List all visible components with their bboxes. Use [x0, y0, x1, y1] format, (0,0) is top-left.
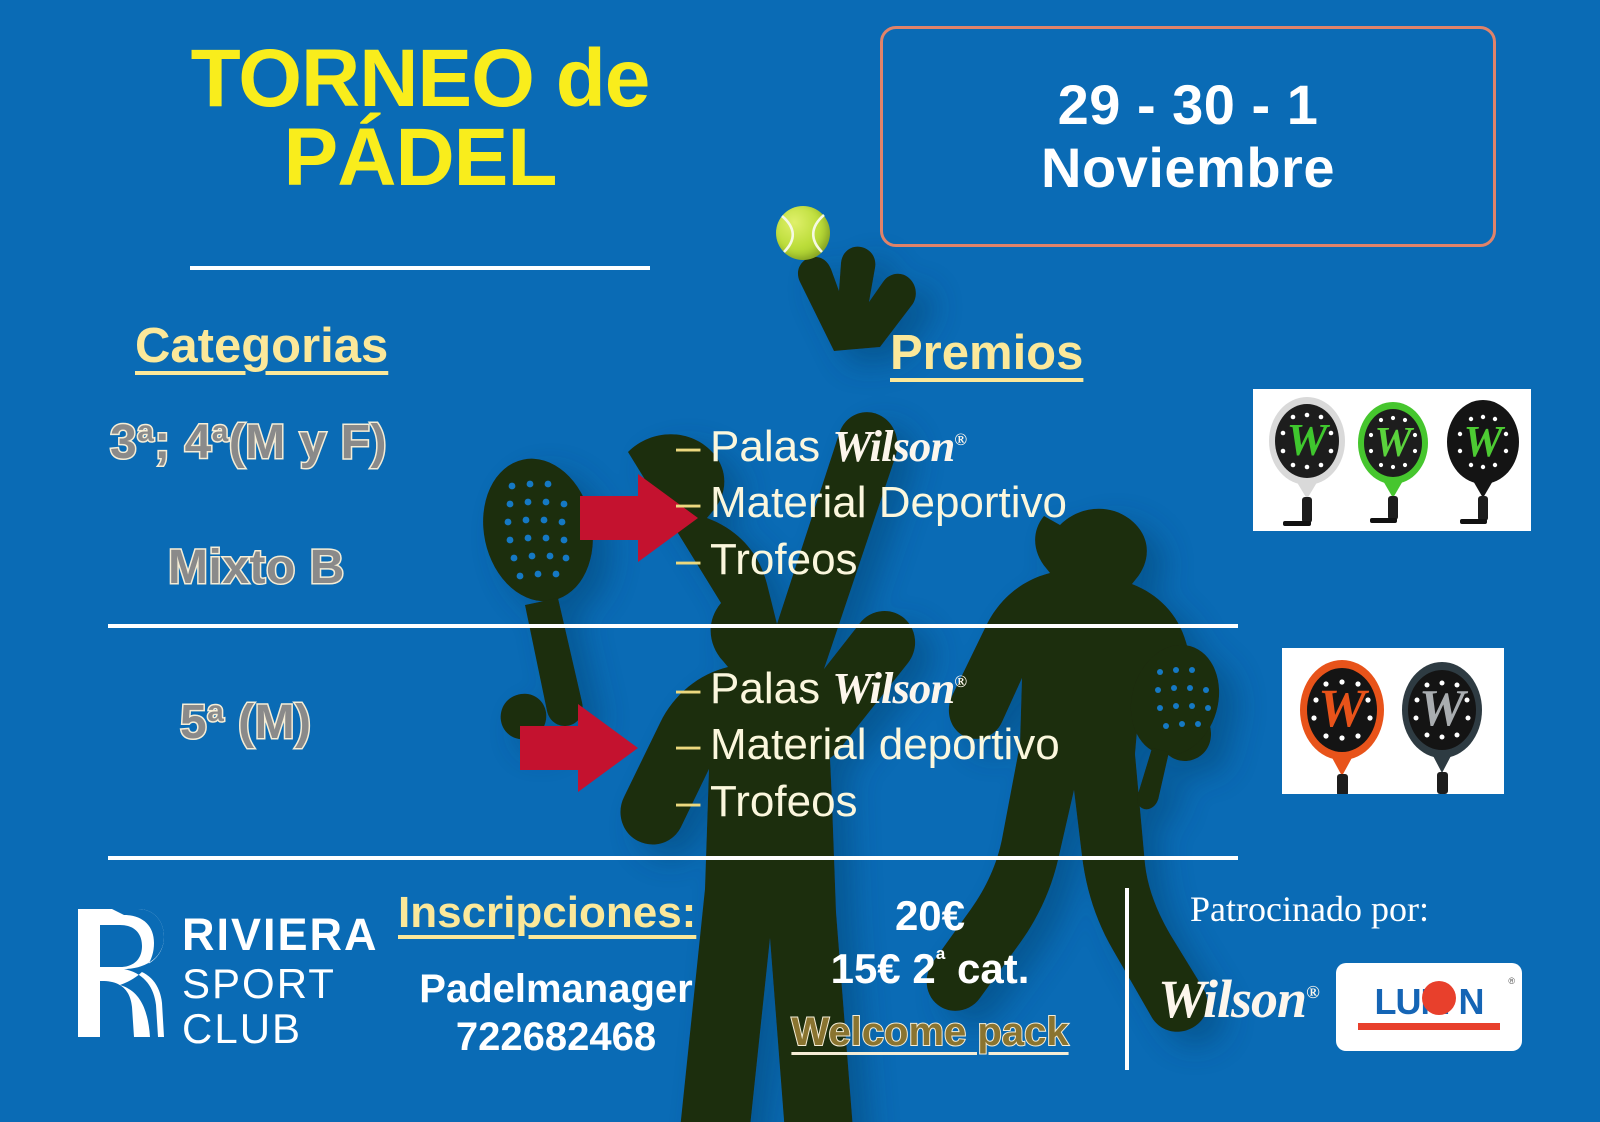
wilson-brand-mark: Wilson®	[832, 663, 966, 713]
page-title: TORNEO de PÁDEL	[120, 40, 720, 197]
inscriptions-heading: Inscripciones:	[398, 888, 696, 938]
price-second-category: 15€ 2ª cat.	[770, 943, 1090, 996]
sponsors-heading: Patrocinado por:	[1190, 888, 1429, 930]
bullet-dash-icon: –	[676, 532, 710, 588]
date-days: 29 - 30 - 1	[1041, 74, 1335, 137]
title-underline-rule	[190, 266, 650, 270]
date-month: Noviembre	[1041, 137, 1335, 200]
poster-canvas: TORNEO de PÁDEL 29 - 30 - 1 Noviembre Ca…	[0, 0, 1600, 1122]
prize-list-block-2: –Palas Wilson® –Material deportivo –Trof…	[676, 660, 1060, 830]
date-box: 29 - 30 - 1 Noviembre	[880, 26, 1496, 247]
sponsor-wilson-logo: Wilson®	[1158, 968, 1319, 1030]
racket-photo-force-set: W W	[1282, 648, 1504, 794]
prize-list-block-1: –Palas Wilson® –Material Deportivo –Trof…	[676, 418, 1067, 588]
svg-text:W: W	[1287, 414, 1331, 465]
title-line-1: TORNEO de	[120, 40, 720, 119]
club-name-line-1: RIVIERA	[182, 912, 412, 957]
prize-label: Material deportivo	[710, 720, 1060, 769]
prize-item: –Palas Wilson®	[676, 660, 1060, 717]
prizes-heading: Premios	[890, 325, 1083, 381]
prize-item: –Palas Wilson®	[676, 418, 1067, 475]
prize-label: Trofeos	[710, 535, 858, 584]
category-item-2: Mixto B	[168, 540, 345, 595]
prize-item: –Material deportivo	[676, 717, 1060, 773]
racket-photo-green-set: W W	[1253, 389, 1531, 531]
inscription-phone[interactable]: 722682468	[396, 1013, 716, 1061]
svg-text:W: W	[1374, 420, 1414, 466]
welcome-pack-label: Welcome pack	[770, 1010, 1090, 1055]
riviera-sport-club-logo: RIVIERA SPORT CLUB	[72, 900, 412, 1050]
lumon-underbar	[1358, 1023, 1500, 1030]
inscriptions-body: Padelmanager 722682468	[396, 965, 716, 1061]
prize-item: –Trofeos	[676, 774, 1060, 830]
title-line-2: PÁDEL	[120, 119, 720, 198]
prize-label: Palas	[710, 422, 832, 471]
prize-item: –Trofeos	[676, 532, 1067, 588]
svg-text:W: W	[1419, 680, 1469, 737]
section-divider-1	[108, 624, 1238, 628]
lumon-registered-mark: ®	[1508, 976, 1515, 986]
bullet-dash-icon: –	[676, 475, 710, 531]
bullet-dash-icon: –	[676, 661, 710, 717]
price-full: 20€	[770, 890, 1090, 943]
prize-label: Trofeos	[710, 777, 858, 826]
svg-text:W: W	[1318, 678, 1370, 738]
bullet-dash-icon: –	[676, 774, 710, 830]
inscription-platform: Padelmanager	[396, 965, 716, 1013]
bullet-dash-icon: –	[676, 717, 710, 773]
pricing-block: 20€ 15€ 2ª cat.	[770, 890, 1090, 995]
wilson-brand-mark: Wilson®	[832, 421, 966, 471]
category-item-1: 3a; 4a(M y F)	[110, 415, 387, 470]
lumon-sun-icon	[1422, 981, 1456, 1015]
prize-item: –Material Deportivo	[676, 475, 1067, 531]
sponsor-lumon-logo: LUM N ®	[1336, 963, 1522, 1051]
prize-label: Material Deportivo	[710, 478, 1067, 527]
riviera-monogram-icon	[72, 903, 164, 1043]
category-item-3: 5a (M)	[180, 695, 312, 750]
sponsor-vertical-divider	[1125, 888, 1129, 1070]
svg-text:W: W	[1463, 417, 1505, 466]
tennis-ball-icon	[776, 206, 830, 260]
arrow-icon	[520, 474, 698, 792]
club-name-line-2: SPORT CLUB	[182, 961, 412, 1052]
categories-heading: Categorias	[135, 318, 388, 374]
prize-label: Palas	[710, 664, 832, 713]
section-divider-2	[108, 856, 1238, 860]
bullet-dash-icon: –	[676, 419, 710, 475]
